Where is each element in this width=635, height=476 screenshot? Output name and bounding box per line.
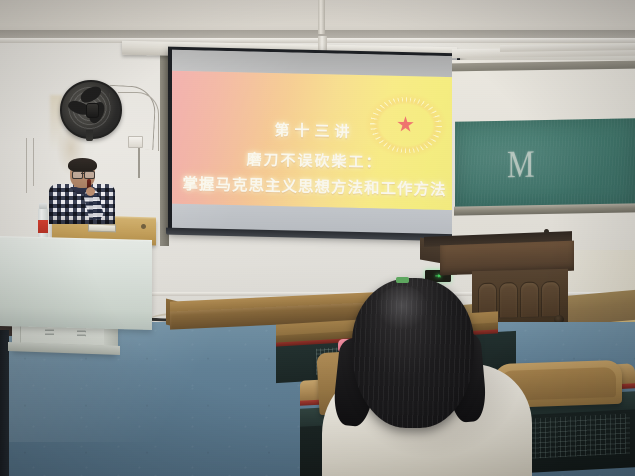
presenter-hair <box>68 158 97 172</box>
podium-counter <box>0 238 152 330</box>
podium-nameplate <box>88 224 116 233</box>
student-foreground <box>330 278 520 476</box>
slide-body: 第十三讲 磨刀不误砍柴工： 掌握马克思主义思想方法和工作方法 <box>172 71 457 210</box>
lectern-panel <box>520 282 539 318</box>
chalk-letter: M <box>507 142 535 188</box>
blackboard-texture <box>455 118 635 211</box>
student-hair <box>352 278 474 428</box>
projector-screen: 第十三讲 磨刀不误砍柴工： 掌握马克思主义思想方法和工作方法 <box>172 50 457 235</box>
fan-hub <box>86 103 99 118</box>
ceiling-pipe <box>318 0 325 34</box>
lectern-microphone <box>544 229 549 234</box>
lecture-hall-photo: 第十三讲 磨刀不误砍柴工： 掌握马克思主义思想方法和工作方法 M ⇥ <box>0 0 635 476</box>
glasses-bridge <box>81 173 85 174</box>
presenter <box>46 160 118 222</box>
fan-bracket <box>86 130 93 141</box>
fan-pull-cord <box>26 138 27 193</box>
wall-socket <box>128 136 143 148</box>
wall-cable-drop <box>138 148 140 178</box>
presenter-hand <box>86 187 95 196</box>
glasses-lens-right-icon <box>84 171 95 179</box>
left-dark-edge <box>0 330 9 476</box>
hair-clip <box>396 277 409 283</box>
podium-fitting <box>141 224 146 229</box>
student-hair-sheen <box>376 286 428 330</box>
fan-pull-cord <box>33 138 34 186</box>
slide-line-3: 掌握马克思主义思想方法和工作方法 <box>172 172 457 200</box>
blackboard: M <box>455 118 635 211</box>
lectern-panel <box>541 281 560 317</box>
